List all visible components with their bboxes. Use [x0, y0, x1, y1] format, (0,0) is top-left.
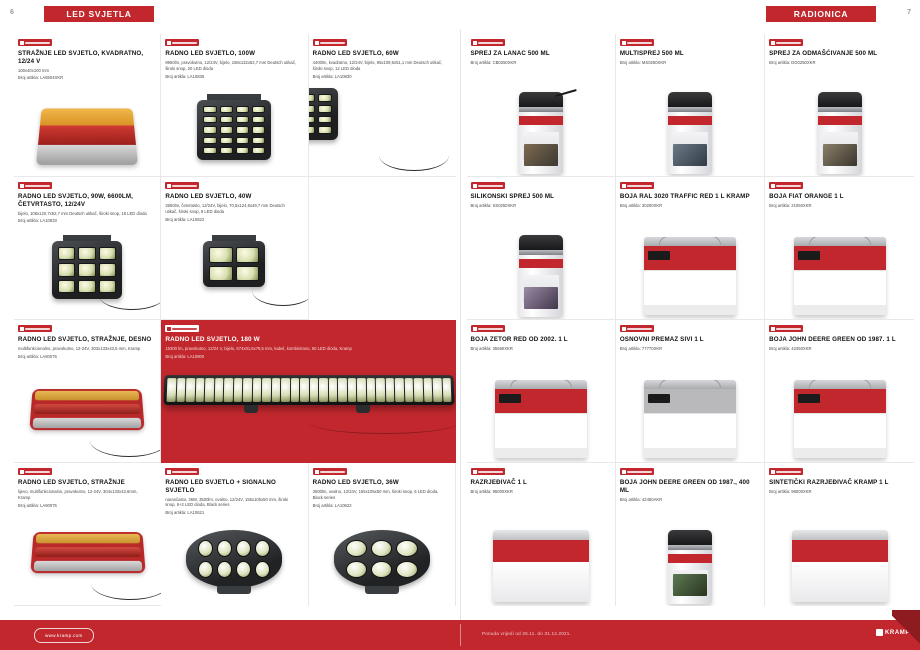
kramp-logo-icon [769, 468, 803, 475]
product-title: STRAŽNJE LED SVJETLO, KVADRATNO, 12/24 V [18, 50, 154, 66]
kramp-logo-icon [18, 468, 52, 475]
kramp-logo-icon [471, 468, 505, 475]
product-description: bijelo, 108x120,7x52,7 mm Deutsch utikač… [18, 211, 149, 217]
right-page: SPREJ ZA LANAC 500 ML Broj artikla: CB02… [461, 30, 920, 620]
product-title: RADNO LED SVJETLO + SIGNALNO SVJETLO [165, 479, 301, 495]
product-title: BOJA JOHN DEERE GREEN OD 1987. 1 L [769, 336, 908, 344]
product-description: 2650lm, četvrtasto, 12/24V, bijelo, 70,5… [165, 203, 296, 215]
product-code: Broj artikla: 42450AKR [620, 497, 758, 503]
product-code: Broj artikla: CB0250XKR [471, 60, 609, 66]
product-image [467, 88, 615, 174]
product-image [467, 231, 615, 317]
product-cell[interactable]: BOJA ZETOR RED OD 2002. 1 L Broj artikla… [467, 320, 616, 463]
product-title: RADNO LED SVJETLO, STRAŽNJE [18, 479, 155, 487]
product-code: Broj artikla: LA60075 [18, 503, 155, 509]
product-description: lijevo, multifunkcionalno, pravokutno, 1… [18, 489, 150, 501]
product-image [765, 88, 914, 174]
product-title: RADNO LED SVJETLO, 36W [313, 479, 449, 487]
product-code: Broj artikla: MS0250XKR [620, 60, 758, 66]
product-cell[interactable]: RADNO LED SVJETLO, 60W 4400lm, kvadratno… [309, 34, 456, 177]
product-title: RADNO LED SVJETLO, 40W [165, 193, 301, 201]
product-cell[interactable]: BOJA FIAT ORANGE 1 L Broj artikla: 21050… [765, 177, 914, 320]
product-code: Broj artikla: LA10822 [165, 217, 301, 223]
product-title: BOJA ZETOR RED OD 2002. 1 L [471, 336, 609, 344]
page-footer: www.kramp.com Ponuda vrijedi od 26.11. d… [0, 620, 920, 650]
product-title: RADNO LED SVJETLO, 90W, 6600LM, ČETVRTAS… [18, 193, 154, 209]
product-image [467, 374, 615, 460]
kramp-logo-icon [620, 39, 654, 46]
product-cell[interactable]: MULTISPREJ 500 ML Broj artikla: MS0250XK… [616, 34, 765, 177]
product-code: Broj artikla: LA10621 [165, 510, 301, 516]
left-page: STRAŽNJE LED SVJETLO, KVADRATNO, 12/24 V… [0, 30, 461, 620]
product-title: BOJA FIAT ORANGE 1 L [769, 193, 908, 201]
catalog-page-spread: 6 LED SVJETLA RADIONICA 7 STRAŽNJE LED S… [0, 0, 920, 650]
category-tag-right: RADIONICA [766, 6, 876, 22]
kramp-logo-icon [18, 325, 52, 332]
product-image [161, 88, 307, 174]
product-description: multifunkcionalno, pravokutno, 12-24V, 3… [18, 346, 149, 352]
product-cell[interactable]: RADNO LED SVJETLO, 40W 2650lm, četvrtast… [161, 177, 308, 320]
corner-fold-decoration [892, 610, 920, 650]
kramp-mark-icon [876, 629, 883, 636]
product-image [616, 88, 764, 174]
empty-cell [309, 177, 456, 320]
product-code: Broj artikla: LA60076 [18, 354, 154, 360]
kramp-logo-icon [165, 39, 199, 46]
product-code: Broj artikla: 30200XKR [620, 203, 758, 209]
product-cell[interactable]: SILIKONSKI SPREJ 500 ML Broj artikla: SS… [467, 177, 616, 320]
spread: STRAŽNJE LED SVJETLO, KVADRATNO, 12/24 V… [0, 30, 920, 620]
product-image [467, 518, 615, 604]
kramp-logo-icon [165, 182, 199, 189]
left-product-grid: STRAŽNJE LED SVJETLO, KVADRATNO, 12/24 V… [14, 34, 456, 606]
product-title: RADNO LED SVJETLO, 100W [165, 50, 301, 58]
product-code: Broj artikla: 21050XKR [769, 203, 908, 209]
kramp-logo-icon [769, 182, 803, 189]
product-description: 3500lm, ovalno, 12/24V, 155x105x50 mm, š… [313, 489, 444, 501]
product-image [14, 231, 160, 317]
right-product-grid: SPREJ ZA LANAC 500 ML Broj artikla: CB02… [467, 34, 915, 606]
product-code: Broj artikla: 95000XKR [471, 489, 609, 495]
kramp-logo-icon [165, 325, 199, 332]
product-image [765, 518, 914, 604]
kramp-logo-icon [18, 39, 52, 46]
kramp-logo-icon [471, 39, 505, 46]
product-title: RADNO LED SVJETLO, 180 W [165, 336, 450, 344]
product-cell[interactable]: SINTETIČKI RAZRJEĐIVAČ KRAMP 1 L Broj ar… [765, 463, 914, 606]
website-link[interactable]: www.kramp.com [34, 628, 94, 643]
product-image [161, 231, 307, 317]
product-image [14, 517, 161, 603]
product-code: Broj artikla: DG0250XKR [769, 60, 908, 66]
product-image [161, 347, 456, 457]
product-title: RADNO LED SVJETLO, 60W [313, 50, 450, 58]
product-cell[interactable]: RADNO LED SVJETLO, STRAŽNJE, DESNO multi… [14, 320, 161, 463]
product-title: RAZRJEĐIVAČ 1 L [471, 479, 609, 487]
product-title: SPREJ ZA LANAC 500 ML [471, 50, 609, 58]
kramp-logo-icon [620, 468, 654, 475]
product-title: RADNO LED SVJETLO, STRAŽNJE, DESNO [18, 336, 154, 344]
kramp-logo-icon [620, 182, 654, 189]
product-image [765, 231, 914, 317]
category-tag-left: LED SVJETLA [44, 6, 154, 22]
product-code: Broj artikla: LA10622 [313, 503, 449, 509]
product-code: Broj artikla: 42450XKR [769, 346, 908, 352]
product-code: Broj artikla: LA10835 [165, 74, 301, 80]
product-code: Broj artikla: 77770XKR [620, 346, 758, 352]
product-image [616, 374, 764, 460]
product-description: narančasto, 36W, 3500lm, ovalno, 12/24V,… [165, 497, 296, 509]
kramp-logo-icon [165, 468, 199, 475]
product-title: OSNOVNI PREMAZ SIVI 1 L [620, 336, 758, 344]
product-cell[interactable]: BOJA JOHN DEERE GREEN OD 1987., 400 ML B… [616, 463, 765, 606]
kramp-logo-icon [471, 325, 505, 332]
product-title: SINTETIČKI RAZRJEĐIVAČ KRAMP 1 L [769, 479, 908, 487]
footer-divider [460, 624, 461, 646]
product-cell[interactable]: RADNO LED SVJETLO, 90W, 6600LM, ČETVRTAS… [14, 177, 161, 320]
product-cell[interactable]: STRAŽNJE LED SVJETLO, KVADRATNO, 12/24 V… [14, 34, 161, 177]
product-title: MULTISPREJ 500 ML [620, 50, 758, 58]
product-cell[interactable]: RADNO LED SVJETLO + SIGNALNO SVJETLO nar… [161, 463, 308, 606]
product-image [765, 374, 914, 460]
kramp-logo-icon [769, 325, 803, 332]
product-cell[interactable]: BOJA RAL 3020 TRAFFIC RED 1 L KRAMP Broj… [616, 177, 765, 320]
product-code: Broj artikla: SS0250XKR [471, 203, 609, 209]
product-code: Broj artikla: 96000XKR [769, 489, 908, 495]
product-image [309, 518, 455, 604]
product-title: BOJA RAL 3020 TRAFFIC RED 1 L KRAMP [620, 193, 758, 201]
validity-text: Ponuda vrijedi od 26.11. do 31.12.2021. [482, 631, 571, 636]
kramp-logo-icon [313, 468, 347, 475]
product-description: 8950lm, pravokutno, 12/24V, bijelo, 158x… [165, 60, 296, 72]
product-code: Broj artikla: LA10830 [313, 74, 450, 80]
kramp-logo-icon [769, 39, 803, 46]
page-number-right: 7 [907, 9, 911, 16]
kramp-logo-icon [18, 182, 52, 189]
product-cell[interactable]: RADNO LED SVJETLO, 100W 8950lm, pravokut… [161, 34, 308, 177]
product-image [616, 518, 764, 604]
product-image [161, 518, 307, 604]
page-header: 6 LED SVJETLA RADIONICA 7 [0, 0, 920, 30]
product-title: SILIKONSKI SPREJ 500 ML [471, 193, 609, 201]
product-cell[interactable]: BOJA JOHN DEERE GREEN OD 1987. 1 L Broj … [765, 320, 914, 463]
product-description: 4400lm, kvadratno, 12/24V, bijelo, 95x10… [313, 60, 445, 72]
product-cell[interactable]: SPREJ ZA ODMAŠĆIVANJE 500 ML Broj artikl… [765, 34, 914, 177]
product-code: Broj artikla: 35560XKR [471, 346, 609, 352]
product-cell[interactable]: RADNO LED SVJETLO, STRAŽNJE lijevo, mult… [14, 463, 161, 606]
product-image [14, 88, 160, 174]
featured-product-cell[interactable]: RADNO LED SVJETLO, 180 W 15300 lm, pravo… [161, 320, 456, 463]
kramp-logo-icon [620, 325, 654, 332]
page-number-left: 6 [10, 9, 14, 16]
kramp-logo-icon [471, 182, 505, 189]
product-cell[interactable]: RAZRJEĐIVAČ 1 L Broj artikla: 95000XKR [467, 463, 616, 606]
product-image [14, 374, 160, 460]
product-description: 100x40x100 mm [18, 68, 149, 74]
product-code: Broj artikla: LA10833 [18, 218, 154, 224]
product-cell[interactable]: RADNO LED SVJETLO, 36W 3500lm, ovalno, 1… [309, 463, 456, 606]
product-cell[interactable]: OSNOVNI PREMAZ SIVI 1 L Broj artikla: 77… [616, 320, 765, 463]
product-image [309, 88, 456, 174]
product-title: SPREJ ZA ODMAŠĆIVANJE 500 ML [769, 50, 908, 58]
product-code: Broj artikla: LA6504XKR [18, 75, 154, 81]
product-cell[interactable]: SPREJ ZA LANAC 500 ML Broj artikla: CB02… [467, 34, 616, 177]
product-image [616, 231, 764, 317]
product-title: BOJA JOHN DEERE GREEN OD 1987., 400 ML [620, 479, 758, 495]
kramp-logo-icon [313, 39, 347, 46]
